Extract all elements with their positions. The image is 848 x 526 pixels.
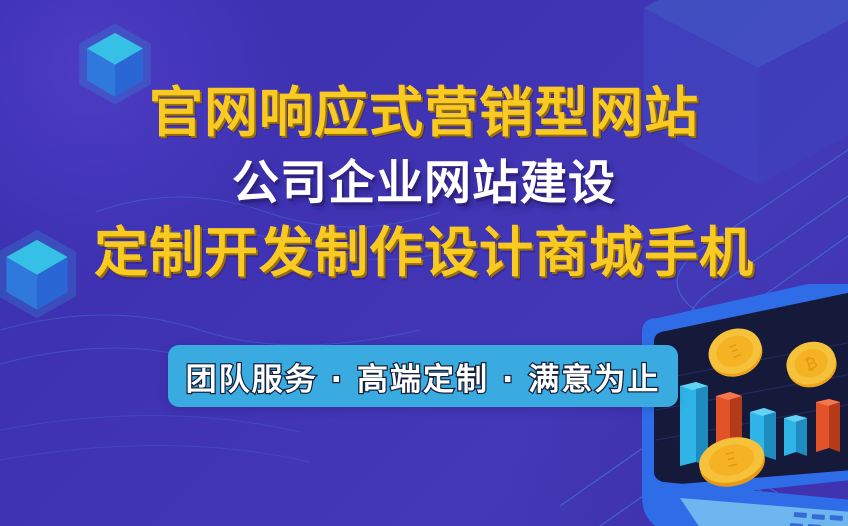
headline-line-3: 定制开发制作设计商城手机 xyxy=(0,226,848,280)
subtitle-banner-bar: 团队服务 · 高端定制 · 满意为止 xyxy=(168,345,678,407)
headline-line-2: 公司企业网站建设 xyxy=(0,160,848,207)
subtitle-text: 团队服务 · 高端定制 · 满意为止 xyxy=(186,354,661,399)
headline-group: 官网响应式营销型网站 公司企业网站建设 定制开发制作设计商城手机 xyxy=(0,0,848,280)
promo-banner: Ξ ₿ Ξ ₿ xyxy=(0,0,848,526)
headline-line-1: 官网响应式营销型网站 xyxy=(0,86,848,140)
